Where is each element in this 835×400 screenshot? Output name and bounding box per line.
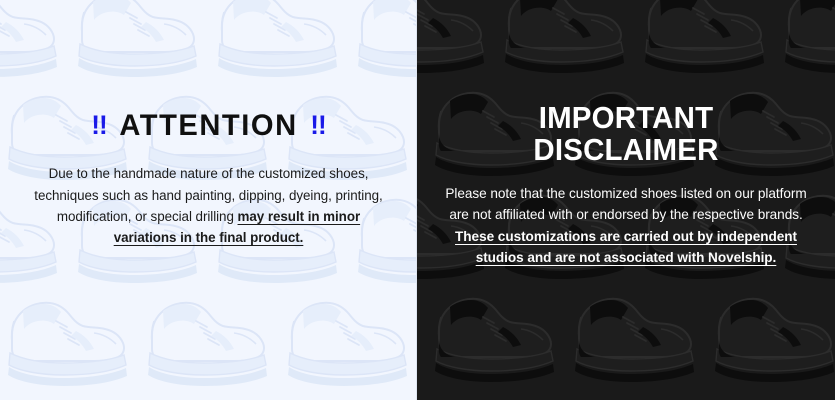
attention-heading: !!ATTENTION!! — [35, 110, 381, 142]
disclaimer-body: Please note that the customized shoes li… — [443, 183, 809, 268]
disclaimer-heading-line2: DISCLAIMER — [452, 134, 800, 166]
disclaimer-panel: IMPORTANTDISCLAIMER Please note that the… — [417, 0, 835, 400]
panel-divider — [416, 0, 417, 400]
double-exclamation-icon-left: !! — [91, 111, 107, 139]
attention-panel: !!ATTENTION!! Due to the handmade nature… — [0, 0, 417, 400]
attention-body: Due to the handmade nature of the custom… — [30, 163, 387, 248]
attention-content: !!ATTENTION!! Due to the handmade nature… — [0, 110, 417, 248]
disclaimer-body-normal: Please note that the customized shoes li… — [445, 186, 806, 222]
attention-heading-text: ATTENTION — [119, 109, 297, 142]
disclaimer-body-emphasis: These customizations are carried out by … — [455, 229, 797, 265]
double-exclamation-icon-right: !! — [310, 111, 326, 139]
disclaimer-content: IMPORTANTDISCLAIMER Please note that the… — [417, 102, 835, 268]
disclaimer-banner: !!ATTENTION!! Due to the handmade nature… — [0, 0, 835, 400]
disclaimer-heading: IMPORTANTDISCLAIMER — [452, 102, 800, 165]
disclaimer-heading-line1: IMPORTANT — [452, 102, 800, 134]
